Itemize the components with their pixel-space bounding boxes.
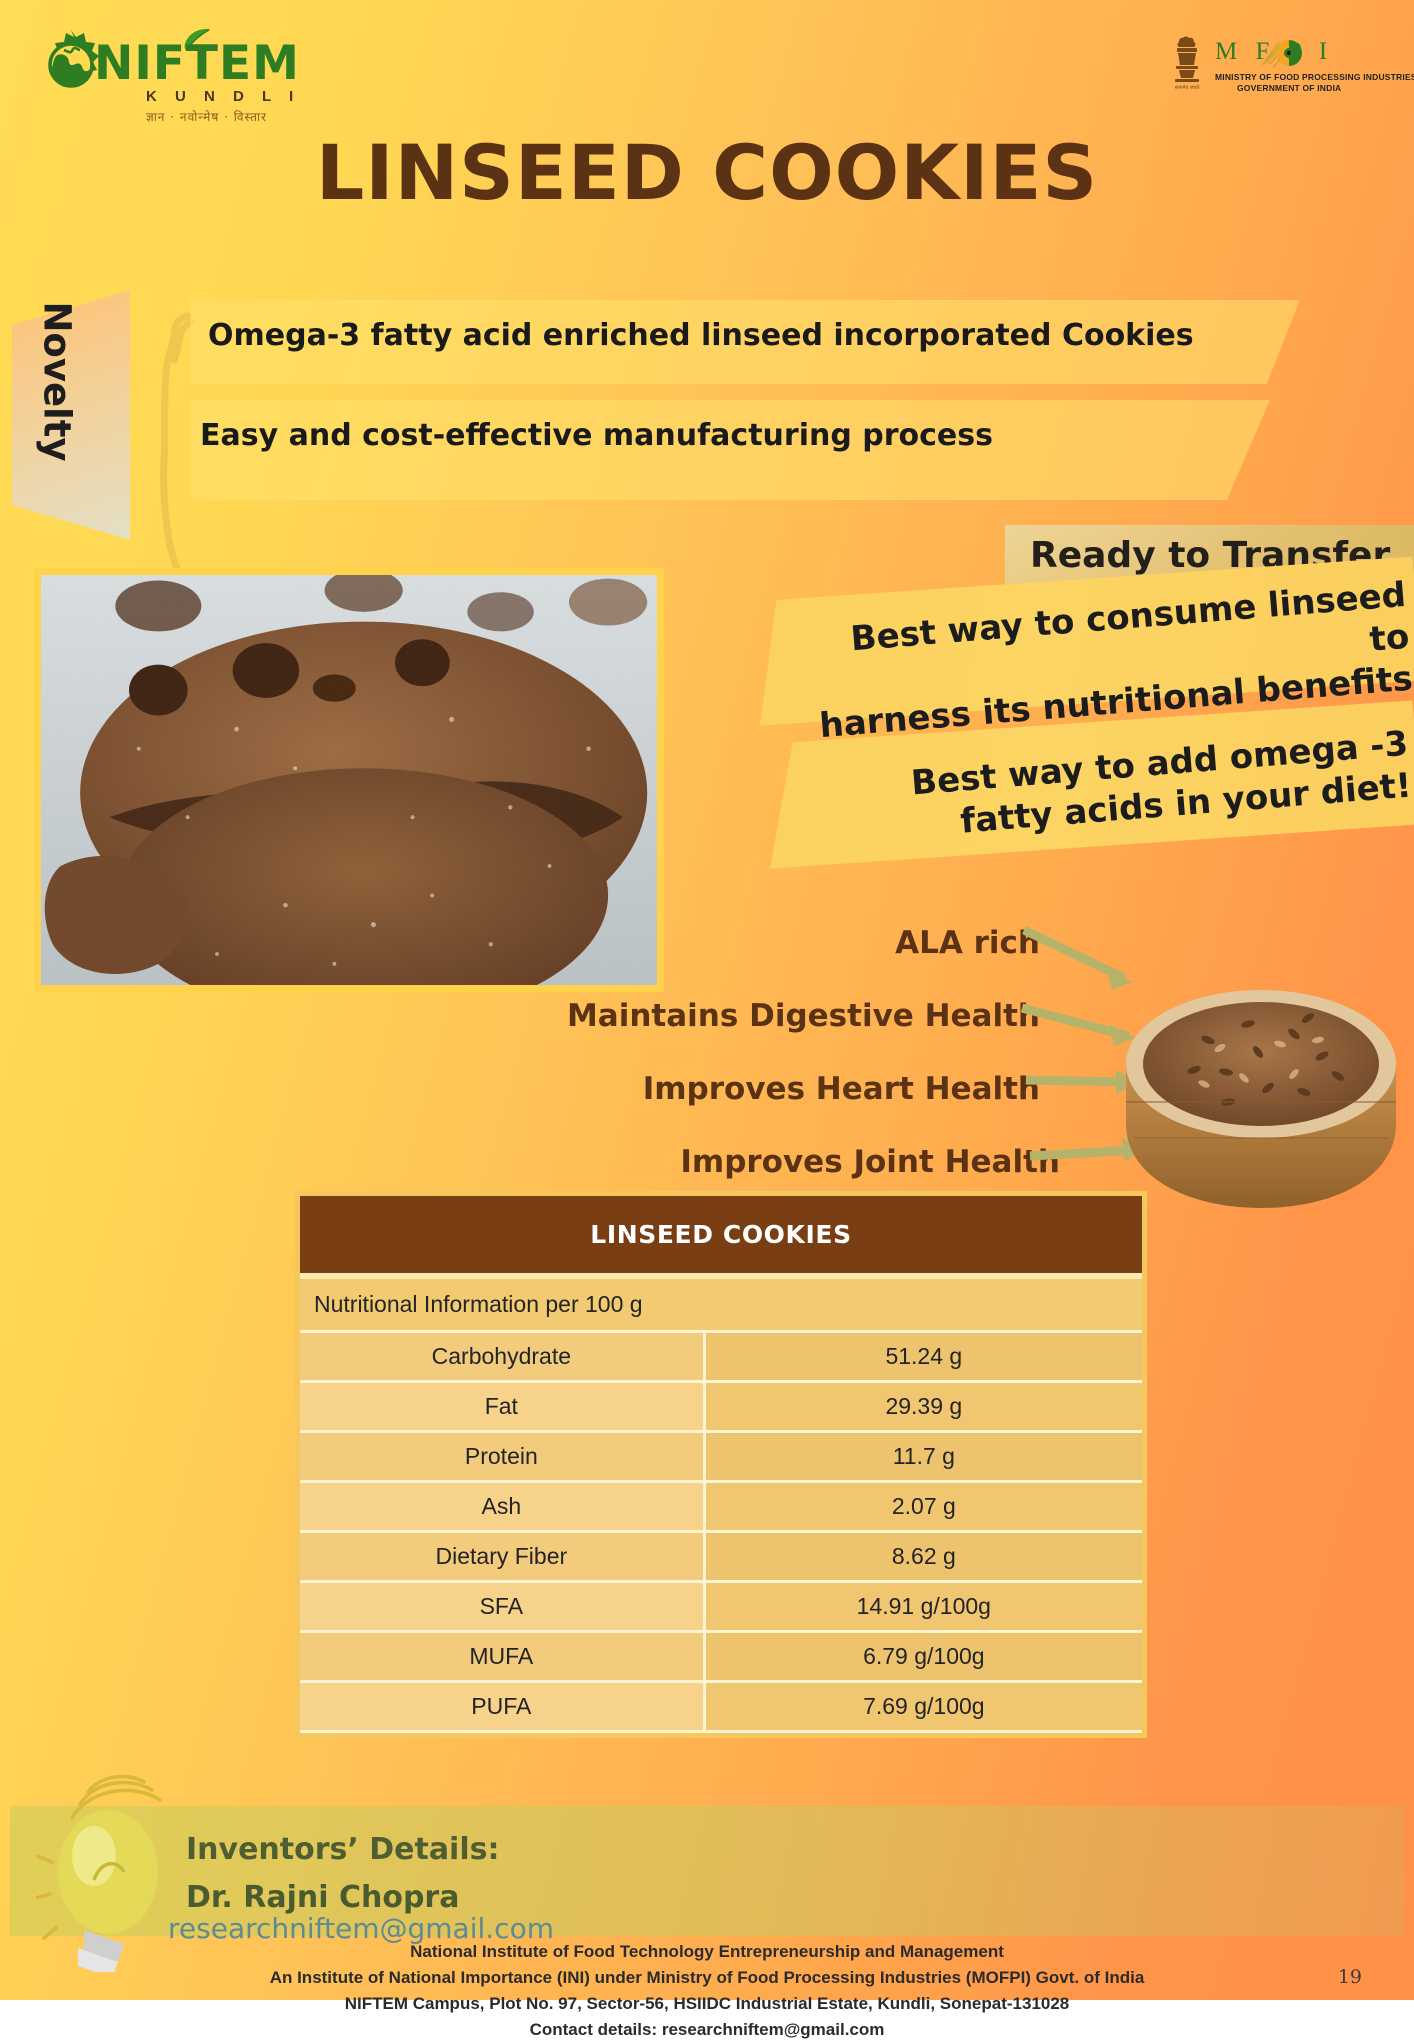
nutrient-value: 2.07 g (704, 1482, 1142, 1532)
table-row: Ash 2.07 g (300, 1482, 1142, 1532)
nutrient-value: 7.69 g/100g (704, 1682, 1142, 1732)
nutrient-name: SFA (300, 1582, 704, 1632)
institute-address-line: NIFTEM Campus, Plot No. 97, Sector-56, H… (0, 1994, 1414, 2014)
inventor-email[interactable]: researchniftem@gmail.com (168, 1912, 554, 1945)
institute-status-line: An Institute of National Importance (INI… (0, 1968, 1414, 1988)
table-row: PUFA 7.69 g/100g (300, 1682, 1142, 1732)
table-row: Carbohydrate 51.24 g (300, 1332, 1142, 1382)
cookie-photo-illustration (41, 575, 657, 985)
niftem-wordmark: NIFTEM (94, 36, 300, 91)
nutrition-table: LINSEED COOKIES Nutritional Information … (300, 1196, 1142, 1733)
mofpi-logo: सत्यमेव जयते M F P I MINISTRY OF FOOD PR… (1167, 36, 1392, 98)
table-row: Fat 29.39 g (300, 1382, 1142, 1432)
nutrient-name: Fat (300, 1382, 704, 1432)
inventors-details-label: Inventors’ Details: (186, 1832, 499, 1867)
table-row: MUFA 6.79 g/100g (300, 1632, 1142, 1682)
niftem-logo: NIFTEM K U N D L I ज्ञान · नवोन्मेष · वि… (34, 22, 314, 112)
novelty-statement-1: Omega-3 fatty acid enriched linseed inco… (208, 318, 1194, 353)
mofpi-ministry-line: MINISTRY OF FOOD PROCESSING INDUSTRIES (1215, 72, 1414, 82)
niftem-hindi-tagline: ज्ञान · नवोन्मेष · विस्तार (146, 108, 267, 125)
nutrient-name: Carbohydrate (300, 1332, 704, 1382)
institute-contact-line: Contact details: researchniftem@gmail.co… (0, 2020, 1414, 2040)
emblem-motto: सत्यमेव जयते (1175, 84, 1200, 91)
nutrient-name: Dietary Fiber (300, 1532, 704, 1582)
novelty-label: Novelty (36, 277, 79, 487)
table-header-row: LINSEED COOKIES (300, 1196, 1142, 1276)
poster-canvas: NIFTEM K U N D L I ज्ञान · नवोन्मेष · वि… (0, 0, 1414, 2000)
nutrient-value: 6.79 g/100g (704, 1632, 1142, 1682)
institute-name-line: National Institute of Food Technology En… (0, 1942, 1414, 1962)
table-row: SFA 14.91 g/100g (300, 1582, 1142, 1632)
linseed-bowl-photo (1108, 952, 1414, 1242)
novelty-statement-2: Easy and cost-effective manufacturing pr… (200, 418, 993, 453)
table-title: LINSEED COOKIES (300, 1196, 1142, 1276)
page-title: LINSEED COOKIES (0, 128, 1414, 217)
inventor-name: Dr. Rajni Chopra (186, 1880, 459, 1915)
benefit-item-digestive-health: Maintains Digestive Health (420, 998, 1040, 1034)
ashoka-lion-capital-icon: सत्यमेव जयते (1167, 36, 1207, 91)
table-row: Protein 11.7 g (300, 1432, 1142, 1482)
mofpi-wordmark: M F P I (1215, 38, 1333, 66)
table-subheader: Nutritional Information per 100 g (300, 1276, 1142, 1332)
nutrient-value: 8.62 g (704, 1532, 1142, 1582)
benefit-item-joint-health: Improves Joint Health (480, 1144, 1060, 1180)
nutrient-value: 14.91 g/100g (704, 1582, 1142, 1632)
table-body: Nutritional Information per 100 g Carboh… (300, 1276, 1142, 1732)
nutrient-value: 29.39 g (704, 1382, 1142, 1432)
nutrient-name: Ash (300, 1482, 704, 1532)
table-subheader-row: Nutritional Information per 100 g (300, 1276, 1142, 1332)
page-number: 19 (1338, 1966, 1362, 1988)
niftem-kundli-label: K U N D L I (146, 88, 300, 105)
benefit-item-ala-rich: ALA rich (560, 925, 1040, 961)
nutrient-name: PUFA (300, 1682, 704, 1732)
nutrient-name: MUFA (300, 1632, 704, 1682)
nutrient-value: 51.24 g (704, 1332, 1142, 1382)
nutrient-value: 11.7 g (704, 1432, 1142, 1482)
benefit-item-heart-health: Improves Heart Health (460, 1071, 1040, 1107)
mofpi-government-line: GOVERNMENT OF INDIA (1237, 83, 1341, 93)
table-row: Dietary Fiber 8.62 g (300, 1532, 1142, 1582)
nutrient-name: Protein (300, 1432, 704, 1482)
